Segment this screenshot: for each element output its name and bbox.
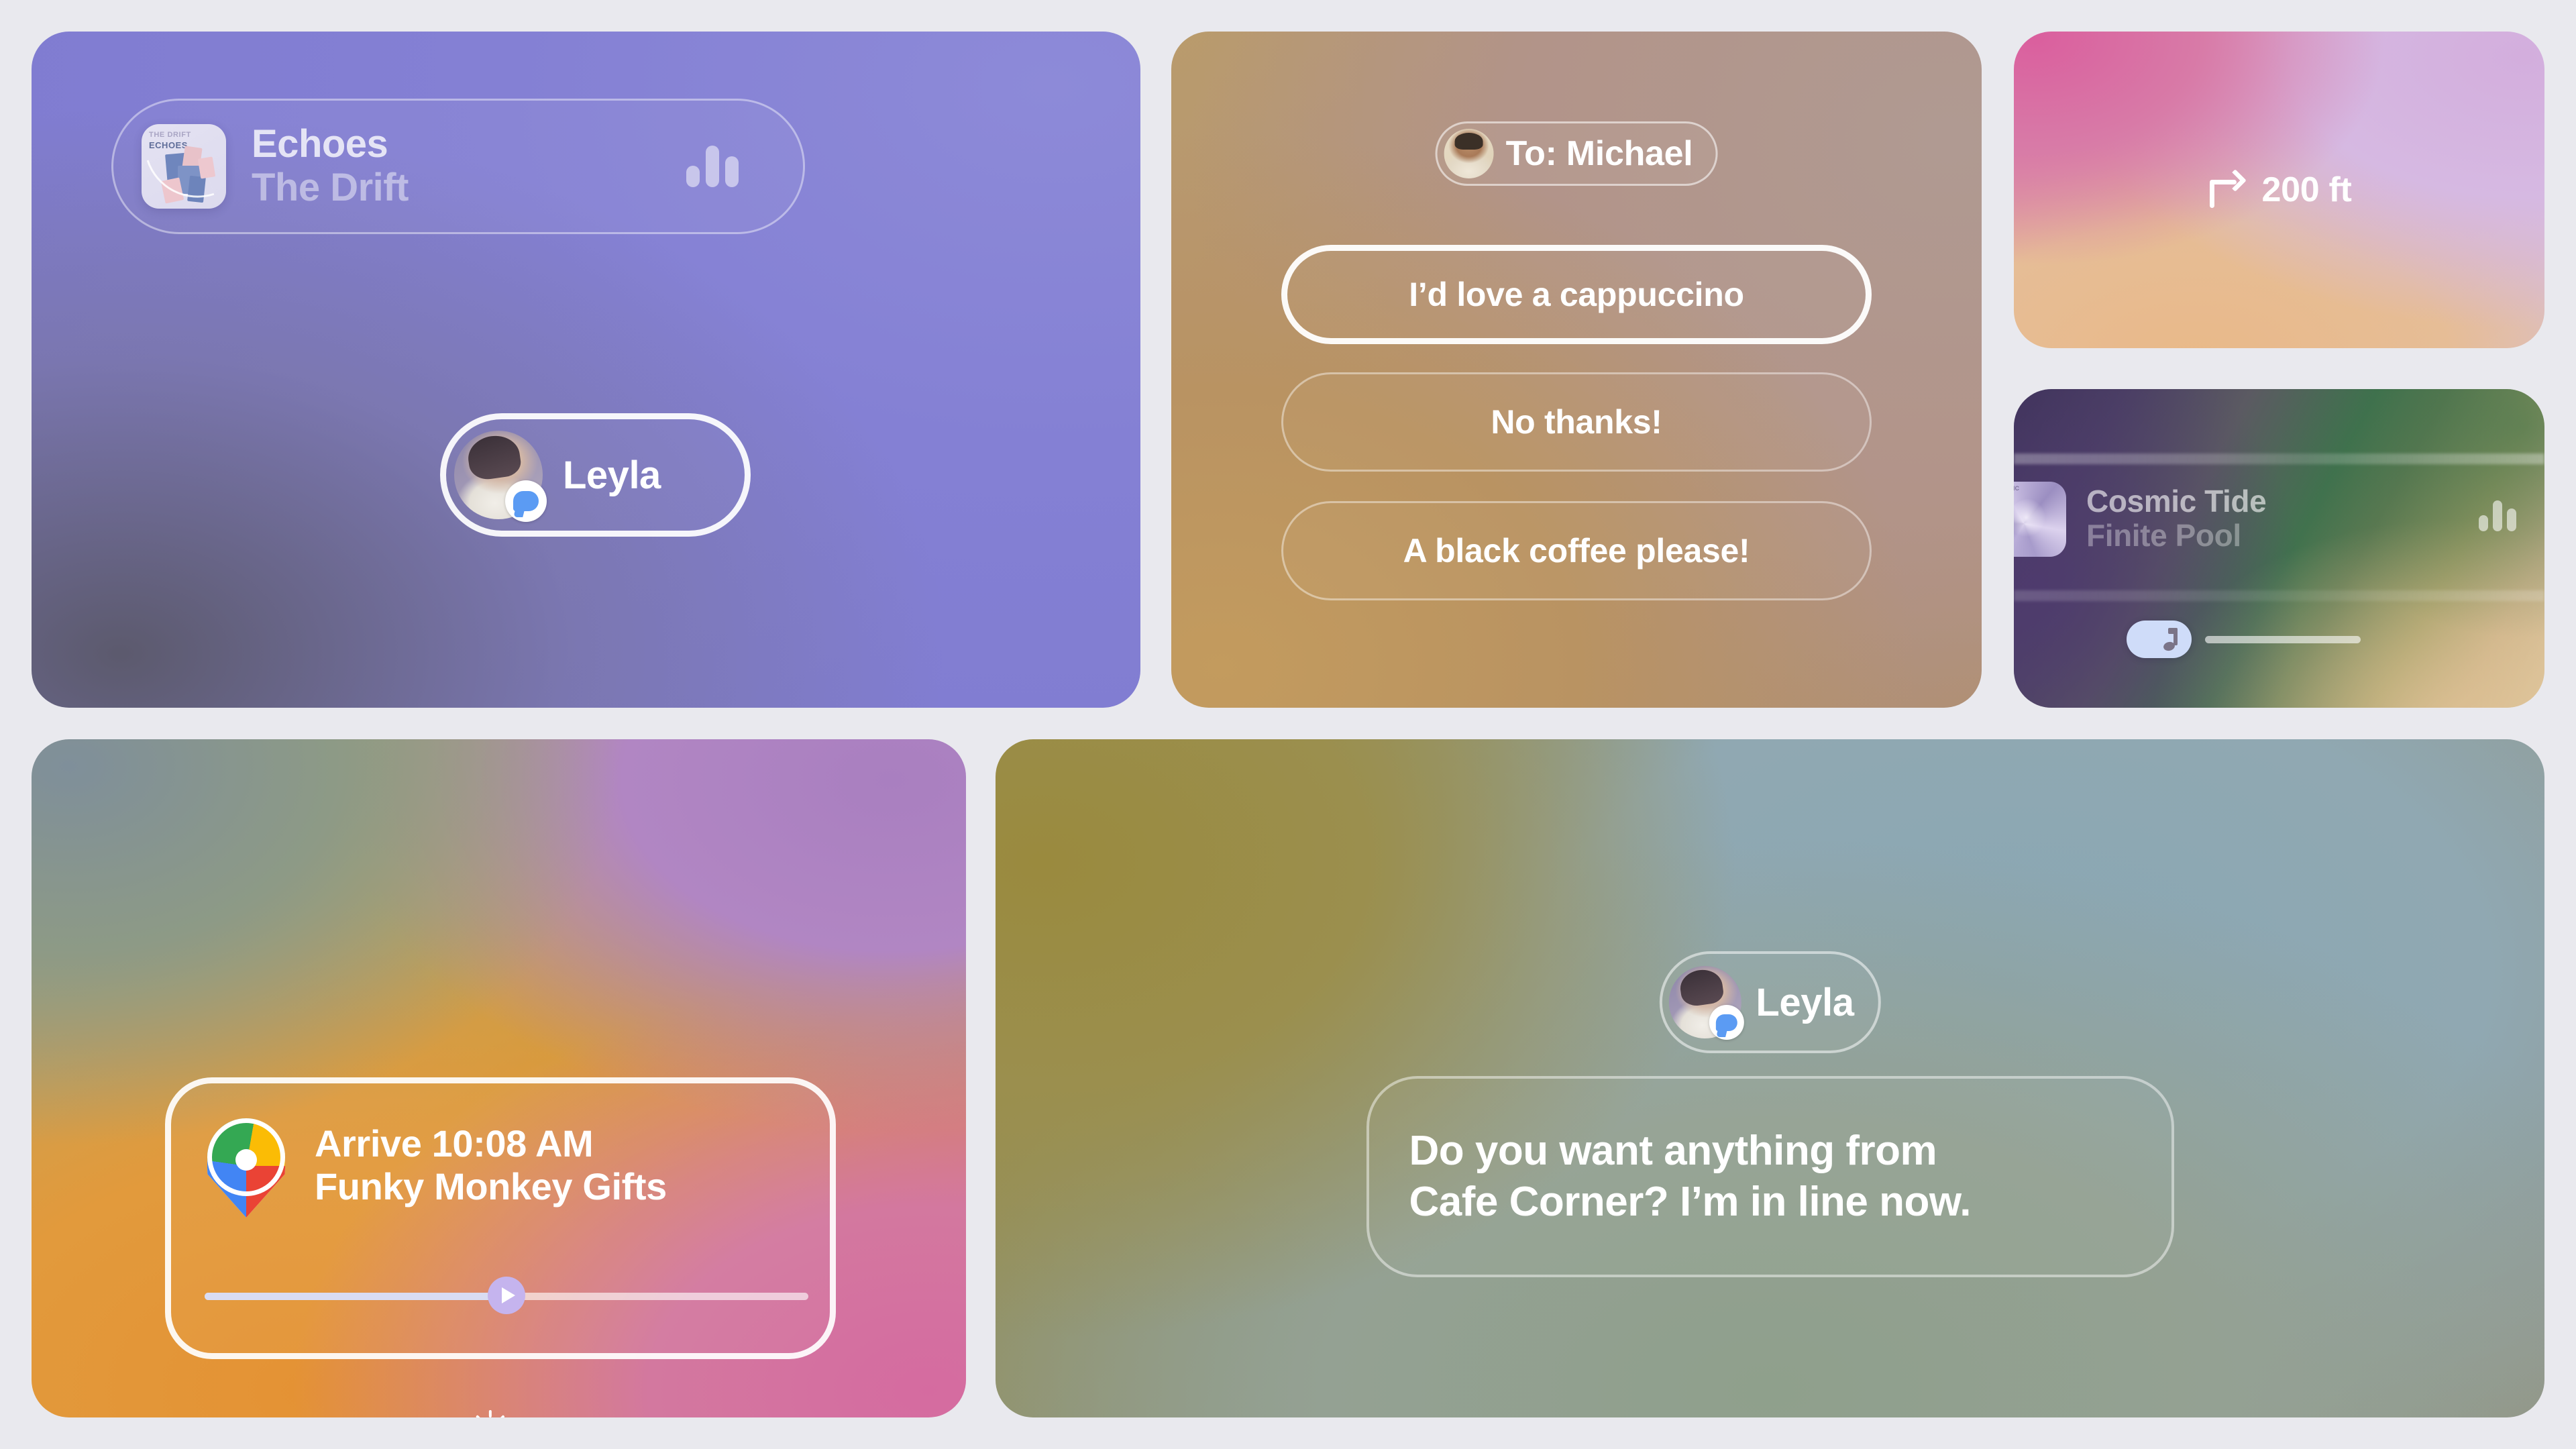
music-band-divider xyxy=(2014,590,2544,601)
sun-icon xyxy=(472,1411,508,1417)
turn-right-icon xyxy=(2206,170,2245,209)
smart-reply-option-0[interactable]: I’d love a cappuccino xyxy=(1281,245,1872,344)
music-note-icon xyxy=(2163,628,2181,651)
maps-card[interactable]: Arrive 10:08 AM Funky Monkey Gifts 8:32 xyxy=(32,739,966,1417)
google-maps-pin-icon xyxy=(202,1118,290,1226)
music-card[interactable]: COSMICTIDE Cosmic Tide Finite Pool xyxy=(2014,389,2544,708)
messages-badge-icon xyxy=(1709,1005,1743,1040)
equalizer-icon xyxy=(2479,500,2516,531)
avatar xyxy=(454,431,543,519)
recipient-label: To: Michael xyxy=(1506,133,1693,174)
message-sender-pill[interactable]: Leyla xyxy=(1659,951,1880,1053)
maps-arrival-time: Arrive 10:08 AM xyxy=(315,1122,667,1165)
music-note-button[interactable] xyxy=(2127,621,2192,658)
maps-directions-pill[interactable]: Arrive 10:08 AM Funky Monkey Gifts xyxy=(165,1077,836,1359)
message-body-line-2: Cafe Corner? I’m in line now. xyxy=(1409,1177,2131,1228)
status-temperature: 72° xyxy=(527,1410,578,1417)
navigation-row: 200 ft xyxy=(2206,170,2351,210)
now-playing-meta: Echoes The Drift xyxy=(252,124,409,209)
message-sender-name: Leyla xyxy=(1756,980,1854,1025)
status-time: 8:32 xyxy=(386,1410,453,1417)
avatar xyxy=(1668,966,1741,1038)
status-row: 8:32 72° xyxy=(386,1410,610,1417)
contact-name: Leyla xyxy=(563,453,661,498)
now-playing-pill[interactable]: THE DRIFT ECHOES Echoes The Drift xyxy=(111,99,805,234)
widget-canvas: THE DRIFT ECHOES Echoes The Drift xyxy=(0,0,2576,1449)
album-art-label-top: THE DRIFT xyxy=(149,131,191,139)
music-track-artist: Finite Pool xyxy=(2086,519,2266,553)
album-art: COSMICTIDE xyxy=(2014,482,2066,557)
message-body-line-1: Do you want anything from xyxy=(1409,1126,2131,1177)
music-track-title: Cosmic Tide xyxy=(2086,485,2266,519)
navigation-distance: 200 ft xyxy=(2261,170,2351,210)
music-band-divider xyxy=(2014,453,2544,464)
smart-reply-card[interactable]: To: Michael I’d love a cappuccino No tha… xyxy=(1171,32,1982,708)
maps-inner-row: Arrive 10:08 AM Funky Monkey Gifts xyxy=(202,1118,667,1226)
music-meta: Cosmic Tide Finite Pool xyxy=(2086,485,2266,553)
track-title: Echoes xyxy=(252,124,409,164)
album-art-label: COSMICTIDE xyxy=(2014,486,2019,499)
message-bubble: Do you want anything from Cafe Corner? I… xyxy=(1366,1076,2174,1277)
navigation-arrow-icon[interactable] xyxy=(488,1277,525,1314)
smart-reply-option-2[interactable]: A black coffee please! xyxy=(1281,501,1872,600)
track-artist: The Drift xyxy=(252,167,409,208)
maps-slider-fill xyxy=(205,1293,506,1300)
smart-reply-option-label: A black coffee please! xyxy=(1403,531,1750,570)
music-info-row: COSMICTIDE Cosmic Tide Finite Pool xyxy=(2014,482,2266,557)
maps-text-block: Arrive 10:08 AM Funky Monkey Gifts xyxy=(315,1118,667,1208)
album-art: THE DRIFT ECHOES xyxy=(142,124,226,209)
now-playing-card[interactable]: THE DRIFT ECHOES Echoes The Drift xyxy=(32,32,1140,708)
recipient-pill[interactable]: To: Michael xyxy=(1436,121,1718,186)
maps-destination: Funky Monkey Gifts xyxy=(315,1165,667,1208)
smart-reply-option-label: I’d love a cappuccino xyxy=(1409,275,1743,314)
music-progress-track[interactable] xyxy=(2205,636,2361,643)
smart-reply-option-1[interactable]: No thanks! xyxy=(1281,372,1872,472)
music-control-row[interactable] xyxy=(2127,621,2361,658)
maps-progress-slider[interactable] xyxy=(205,1277,808,1314)
equalizer-icon xyxy=(686,146,739,187)
avatar xyxy=(1444,129,1494,178)
message-card[interactable]: Leyla Do you want anything from Cafe Cor… xyxy=(996,739,2544,1417)
messages-badge-icon xyxy=(505,480,547,522)
navigation-card[interactable]: 200 ft xyxy=(2014,32,2544,348)
smart-reply-option-label: No thanks! xyxy=(1491,402,1662,441)
contact-pill-leyla[interactable]: Leyla xyxy=(440,413,751,537)
